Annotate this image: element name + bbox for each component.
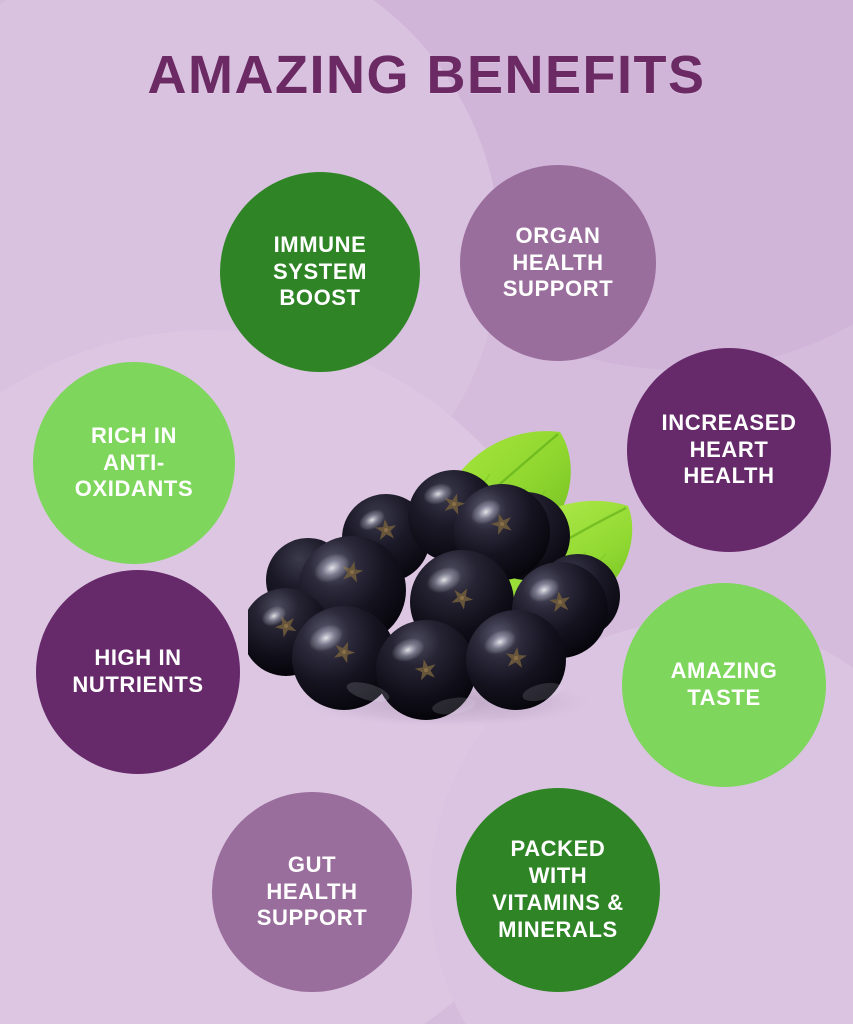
benefit-label-high-in-nutrients: HIGH IN NUTRIENTS: [72, 645, 203, 699]
aronia-berry-cluster-image: [248, 420, 648, 730]
benefit-label-organ-health-support: ORGAN HEALTH SUPPORT: [503, 223, 614, 303]
benefit-bubble-rich-in-antioxidants[interactable]: RICH IN ANTI- OXIDANTS: [33, 362, 235, 564]
benefit-label-gut-health-support: GUT HEALTH SUPPORT: [257, 852, 368, 932]
benefit-bubble-amazing-taste[interactable]: AMAZING TASTE: [622, 583, 826, 787]
benefit-bubble-increased-heart-health[interactable]: INCREASED HEART HEALTH: [627, 348, 831, 552]
infographic-poster: AMAZING BENEFITS: [0, 0, 853, 1024]
benefit-bubble-packed-with-vitamins-minerals[interactable]: PACKED WITH VITAMINS & MINERALS: [456, 788, 660, 992]
benefit-label-increased-heart-health: INCREASED HEART HEALTH: [662, 410, 797, 490]
page-title: AMAZING BENEFITS: [0, 48, 853, 102]
benefit-label-immune-system-boost: IMMUNE SYSTEM BOOST: [273, 232, 367, 312]
benefit-bubble-organ-health-support[interactable]: ORGAN HEALTH SUPPORT: [460, 165, 656, 361]
berry-front-row: [292, 606, 566, 720]
benefit-bubble-immune-system-boost[interactable]: IMMUNE SYSTEM BOOST: [220, 172, 420, 372]
benefit-label-amazing-taste: AMAZING TASTE: [671, 658, 778, 712]
benefit-label-rich-in-antioxidants: RICH IN ANTI- OXIDANTS: [75, 423, 193, 503]
benefit-bubble-high-in-nutrients[interactable]: HIGH IN NUTRIENTS: [36, 570, 240, 774]
benefit-bubble-gut-health-support[interactable]: GUT HEALTH SUPPORT: [212, 792, 412, 992]
benefit-label-packed-with-vitamins-minerals: PACKED WITH VITAMINS & MINERALS: [492, 836, 623, 943]
